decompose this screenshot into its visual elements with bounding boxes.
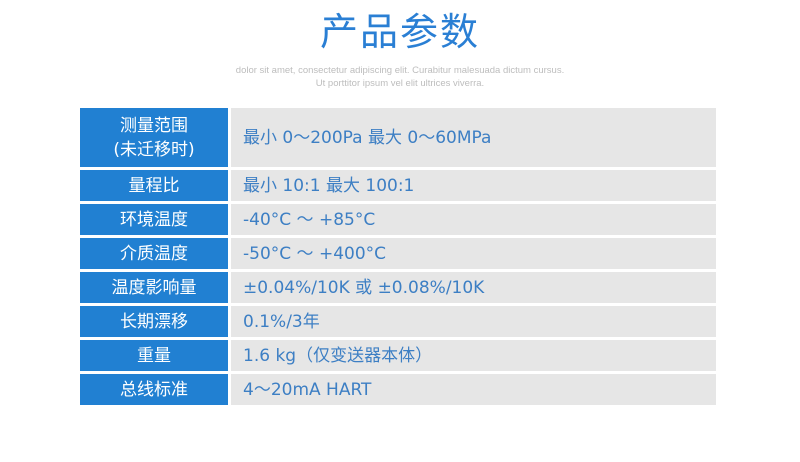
spec-value: ±0.04%/10K 或 ±0.08%/10K — [231, 272, 716, 303]
spec-label-line-1: 长期漂移 — [120, 310, 188, 334]
spec-label: 量程比 — [80, 170, 228, 201]
spec-label-line-2: (未迁移时) — [113, 138, 194, 162]
spec-value: -50°C ～ +400°C — [231, 238, 716, 269]
spec-label-line-1: 测量范围 — [120, 114, 188, 138]
spec-label: 重量 — [80, 340, 228, 371]
table-row: 长期漂移 0.1%/3年 — [80, 306, 716, 337]
table-row: 温度影响量 ±0.04%/10K 或 ±0.08%/10K — [80, 272, 716, 303]
spec-table: 测量范围 (未迁移时) 最小 0～200Pa 最大 0～60MPa 量程比 最小… — [80, 108, 716, 405]
spec-value: 最小 0～200Pa 最大 0～60MPa — [231, 108, 716, 167]
spec-label-line-1: 温度影响量 — [112, 276, 197, 300]
page-subtitle-line-2: Ut porttitor ipsum vel elit ultrices viv… — [190, 77, 610, 90]
spec-value: -40°C ～ +85°C — [231, 204, 716, 235]
spec-label: 介质温度 — [80, 238, 228, 269]
spec-value: 4～20mA HART — [231, 374, 716, 405]
spec-label: 测量范围 (未迁移时) — [80, 108, 228, 167]
page-header: 产品参数 dolor sit amet, consectetur adipisc… — [0, 0, 800, 90]
table-row: 总线标准 4～20mA HART — [80, 374, 716, 405]
spec-label-line-1: 重量 — [137, 344, 171, 368]
page-subtitle-line-1: dolor sit amet, consectetur adipiscing e… — [190, 64, 610, 77]
spec-label: 环境温度 — [80, 204, 228, 235]
table-row: 量程比 最小 10:1 最大 100:1 — [80, 170, 716, 201]
page-subtitle: dolor sit amet, consectetur adipiscing e… — [190, 64, 610, 90]
product-spec-page: 产品参数 dolor sit amet, consectetur adipisc… — [0, 0, 800, 462]
page-title: 产品参数 — [0, 8, 800, 56]
table-row: 介质温度 -50°C ～ +400°C — [80, 238, 716, 269]
spec-label: 总线标准 — [80, 374, 228, 405]
table-row: 重量 1.6 kg（仅变送器本体） — [80, 340, 716, 371]
spec-label-line-1: 介质温度 — [120, 242, 188, 266]
spec-label-line-1: 总线标准 — [120, 378, 188, 402]
spec-value: 1.6 kg（仅变送器本体） — [231, 340, 716, 371]
spec-label-line-1: 量程比 — [129, 174, 180, 198]
spec-value: 0.1%/3年 — [231, 306, 716, 337]
spec-label-line-1: 环境温度 — [120, 208, 188, 232]
spec-label: 温度影响量 — [80, 272, 228, 303]
spec-value: 最小 10:1 最大 100:1 — [231, 170, 716, 201]
table-row: 环境温度 -40°C ～ +85°C — [80, 204, 716, 235]
table-row: 测量范围 (未迁移时) 最小 0～200Pa 最大 0～60MPa — [80, 108, 716, 167]
spec-label: 长期漂移 — [80, 306, 228, 337]
